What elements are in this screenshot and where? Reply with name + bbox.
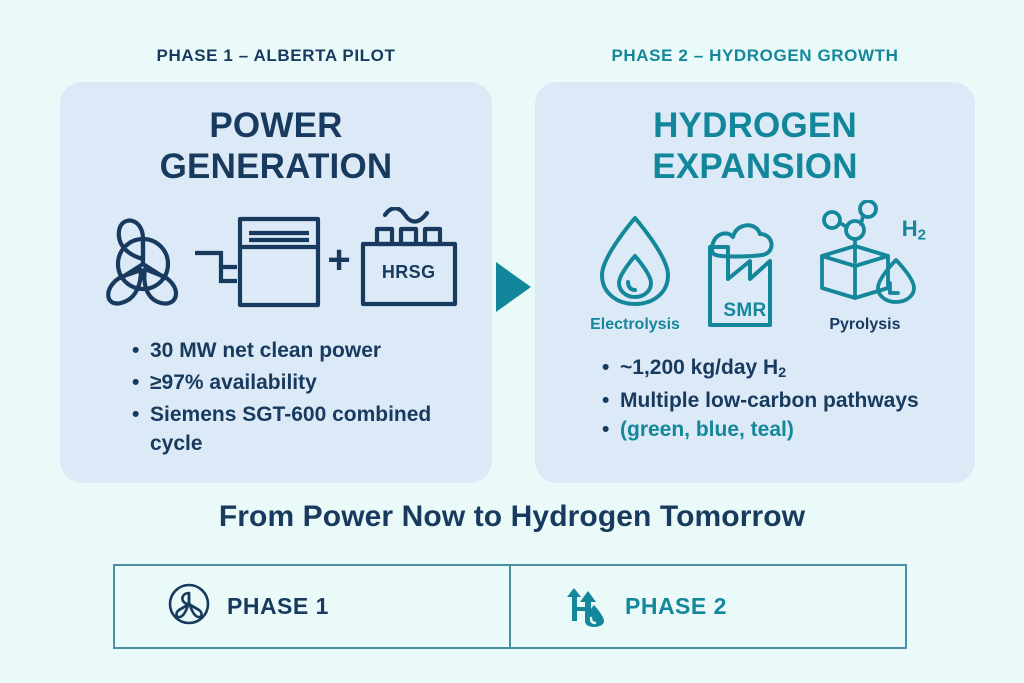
phase-1-header: PHASE 1 – ALBERTA PILOT <box>60 46 492 66</box>
phase-2-title-line-2: EXPANSION <box>535 147 975 188</box>
pyrolysis-caption: Pyrolysis <box>829 316 900 334</box>
right-arrow-icon <box>496 262 531 312</box>
smr-factory-icon: SMR <box>702 217 788 334</box>
legend-label-phase-1: PHASE 1 <box>227 593 329 620</box>
turbine-icon <box>91 207 195 316</box>
electrolysis-icon <box>594 212 676 313</box>
list-item: Multiple low-carbon pathways <box>600 387 965 416</box>
smr-item: SMR <box>702 217 788 334</box>
smr-label: SMR <box>702 300 788 322</box>
pyrolysis-item: H2 Pyrolysis <box>810 200 920 334</box>
list-item: ≥97% availability <box>130 369 475 398</box>
phase-1-icon-row: + HRSG <box>60 207 492 316</box>
phase-1-title-line-1: POWER <box>60 106 492 147</box>
phase-1-bullet-list: 30 MW net clean power ≥97% availability … <box>130 337 475 462</box>
phase-2-header: PHASE 2 – HYDROGEN GROWTH <box>535 46 975 66</box>
electrolysis-caption: Electrolysis <box>590 316 680 334</box>
list-item: (green, blue, teal) <box>600 416 965 445</box>
legend-item-phase-2[interactable]: PHASE 2 <box>509 566 905 647</box>
bullet-subscript: 2 <box>778 365 786 381</box>
generator-block-icon <box>237 207 321 316</box>
phase-2-panel: HYDROGEN EXPANSION Electrolysis <box>535 82 975 483</box>
phase-2-bullet-list: ~1,200 kg/day H2 Multiple low-carbon pat… <box>600 354 965 448</box>
bullet-continuation-text: (green, blue, teal) <box>620 418 794 441</box>
legend-item-phase-1[interactable]: PHASE 1 <box>115 566 509 647</box>
h2-label: H2 <box>902 216 926 243</box>
infographic-canvas: PHASE 1 – ALBERTA PILOT PHASE 2 – HYDROG… <box>0 0 1024 683</box>
phase-legend-bar: PHASE 1 PHASE 2 <box>113 564 907 649</box>
connector-pipe-icon <box>195 207 237 316</box>
pyrolysis-icon: H2 <box>810 200 920 313</box>
phase-2-icon-row: Electrolysis SMR <box>535 200 975 334</box>
wind-turbine-circle-icon <box>167 582 211 631</box>
phase-1-panel: POWER GENERATION <box>60 82 492 483</box>
legend-label-phase-2: PHASE 2 <box>625 593 727 620</box>
hydrogen-growth-arrows-icon <box>563 581 609 632</box>
phase-1-title-line-2: GENERATION <box>60 147 492 188</box>
list-item: Siemens SGT-600 combined cycle <box>130 401 475 459</box>
h2-element: H <box>902 216 918 241</box>
bullet-text: ~1,200 kg/day H <box>620 356 778 379</box>
tagline: From Power Now to Hydrogen Tomorrow <box>0 500 1024 534</box>
bullet-text: Multiple low-carbon pathways <box>620 389 919 412</box>
phase-2-panel-title: HYDROGEN EXPANSION <box>535 106 975 187</box>
hrsg-label: HRSG <box>357 262 461 283</box>
phase-1-panel-title: POWER GENERATION <box>60 106 492 187</box>
electrolysis-item: Electrolysis <box>590 212 680 334</box>
list-item: ~1,200 kg/day H2 <box>600 354 965 384</box>
list-item: 30 MW net clean power <box>130 337 475 366</box>
phase-2-title-line-1: HYDROGEN <box>535 106 975 147</box>
h2-subscript: 2 <box>918 226 926 243</box>
plus-sign: + <box>327 240 350 284</box>
hrsg-icon: HRSG <box>357 207 461 316</box>
